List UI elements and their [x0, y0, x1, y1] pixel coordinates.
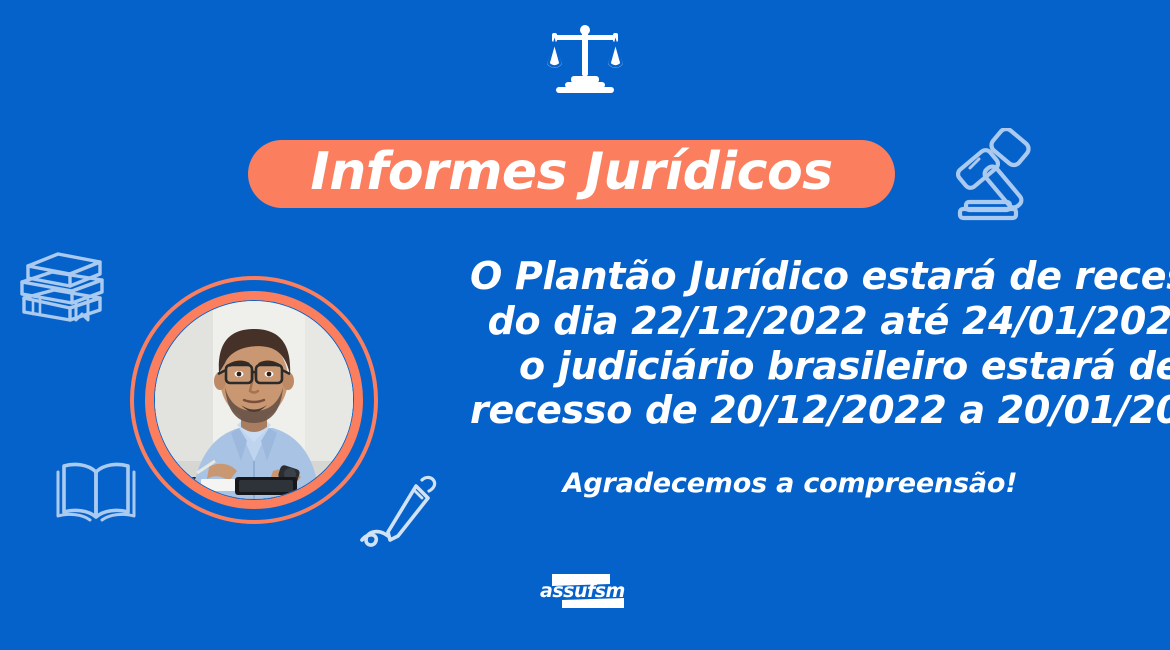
scales-of-justice-icon	[546, 22, 624, 94]
announcement-line-1: O Plantão Jurídico estará de recesso	[470, 254, 1170, 299]
svg-text:assufsm: assufsm	[540, 580, 625, 602]
title-pill: Informes Jurídicos	[248, 140, 895, 208]
closing-text: Agradecemos a compreensão!	[470, 468, 1110, 499]
gavel-icon	[948, 128, 1048, 224]
announcement-line-3: o judiciário brasileiro estará de	[470, 344, 1170, 389]
avatar-photo	[155, 301, 353, 499]
announcement-line-4: recesso de 20/12/2022 a 20/01/2023	[470, 388, 1170, 433]
page-title: Informes Jurídicos	[310, 146, 832, 198]
announcement-text: O Plantão Jurídico estará de recesso do …	[470, 254, 1170, 433]
poster-canvas: Informes Jurídicos	[0, 0, 1170, 650]
avatar	[130, 276, 378, 524]
open-book-icon	[52, 456, 140, 524]
announcement-line-2: do dia 22/12/2022 até 24/01/2023,	[470, 299, 1170, 344]
assufsm-logo: assufsm	[534, 570, 638, 610]
stacked-books-icon	[14, 244, 110, 324]
